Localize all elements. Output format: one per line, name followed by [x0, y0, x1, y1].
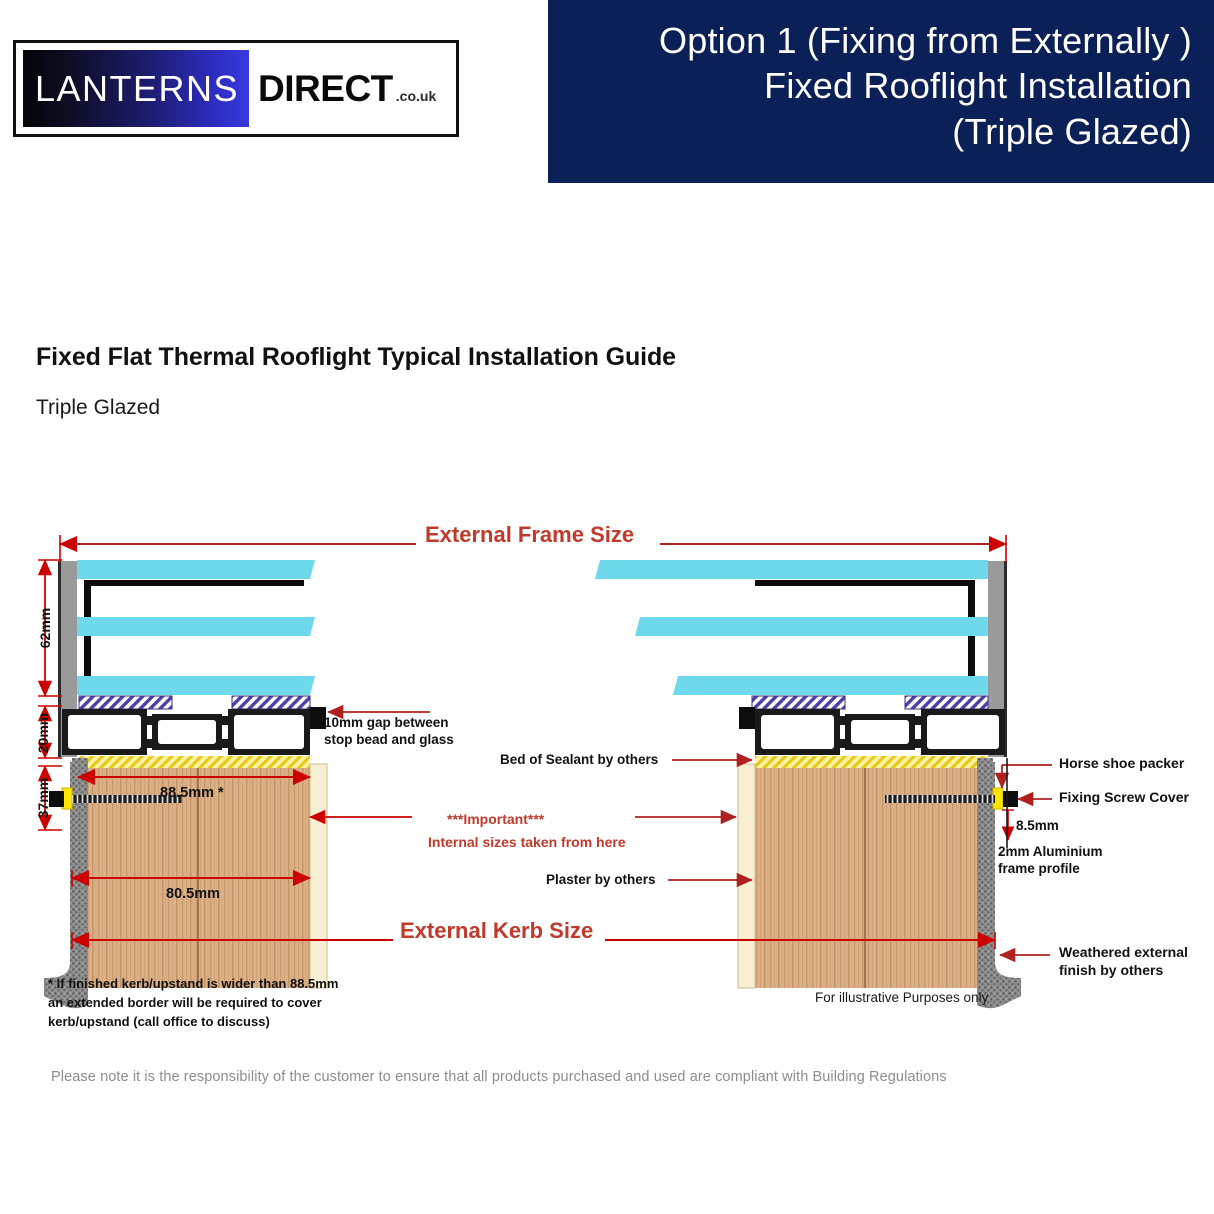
fixing-screw-cover-left: [49, 791, 64, 807]
thermal-break-connector-bl-r: [838, 739, 848, 748]
weathered-finish-upstand-left: [72, 758, 88, 990]
dim-label-88-5mm: 88.5mm *: [160, 785, 224, 801]
logo-inner: LANTERNS DIRECT .co.uk: [23, 50, 449, 127]
thermal-break-connector-tl-r: [838, 716, 848, 725]
thermal-break-connector-tl: [145, 716, 155, 725]
thermal-break-connector-tr-r: [912, 716, 923, 725]
footer-disclaimer: Please note it is the responsibility of …: [51, 1069, 947, 1085]
thermal-break-connector-tr: [219, 716, 230, 725]
callout-horse-shoe-packer: Horse shoe packer: [1059, 755, 1184, 773]
stop-bead-right: [739, 707, 755, 729]
callout-important-text: Internal sizes taken from here: [428, 833, 626, 851]
company-logo: LANTERNS DIRECT .co.uk: [13, 40, 459, 137]
dim-label-80-5mm: 80.5mm: [166, 886, 220, 902]
banner-line-1: Option 1 (Fixing from Externally ): [568, 18, 1192, 63]
aluminium-frame-profile-right: [755, 709, 1005, 755]
left-upstand-edge: [58, 561, 61, 757]
illustrative-note: For illustrative Purposes only: [815, 990, 988, 1005]
callout-fixing-screw-cover: Fixing Screw Cover: [1059, 789, 1189, 807]
frame-chamber-inner-void: [234, 715, 304, 749]
glass-spacer-bar-1: [84, 580, 304, 586]
fixing-screw-right: [885, 795, 995, 803]
plaster-right: [738, 764, 755, 988]
callout-important-title: ***Important***: [447, 810, 544, 828]
glass-pane-inner-right: [673, 676, 988, 695]
callout-plaster: Plaster by others: [546, 871, 656, 888]
logo-gradient-block: LANTERNS: [23, 50, 249, 127]
callout-weathered-finish: Weathered external finish by others: [1059, 944, 1188, 980]
glass-pane-middle: [77, 617, 315, 636]
header-banner: Option 1 (Fixing from Externally ) Fixed…: [548, 0, 1214, 183]
banner-line-3: (Triple Glazed): [568, 109, 1192, 154]
setting-block-right: [232, 696, 310, 709]
plaster-left: [310, 764, 327, 988]
frame-chamber-middle-void-r: [851, 720, 909, 744]
bed-of-sealant-left: [79, 756, 310, 768]
banner-line-2: Fixed Rooflight Installation: [568, 63, 1192, 108]
setting-block-left: [79, 696, 172, 709]
page-root: LANTERNS DIRECT .co.uk Option 1 (Fixing …: [0, 0, 1214, 1214]
setting-block-left-right: [752, 696, 845, 709]
frame-chamber-inner-void-r: [761, 715, 834, 749]
installation-cross-section-diagram: External Frame Size External Kerb Size 6…: [0, 500, 1214, 1060]
dim-label-8-5mm: 8.5mm: [1016, 818, 1059, 833]
callout-bed-of-sealant: Bed of Sealant by others: [500, 751, 658, 768]
dim-label-20mm: 20mm: [35, 698, 51, 768]
logo-brand-primary: LANTERNS: [35, 68, 239, 110]
thermal-break-connector-br: [219, 739, 230, 748]
aluminium-frame-profile-left: [62, 709, 310, 755]
frame-chamber-outer-void: [68, 715, 141, 749]
label-external-kerb-size: External Kerb Size: [400, 918, 593, 944]
logo-text-block: DIRECT .co.uk: [249, 68, 436, 110]
setting-block-right-right: [905, 696, 988, 709]
frame-chamber-outer-void-r: [927, 715, 999, 749]
dim-label-37mm: 37mm: [35, 763, 51, 833]
dim-label-62mm: 62mm: [37, 593, 53, 663]
glass-pane-inner: [77, 676, 315, 695]
glass-pane-outer: [77, 560, 315, 579]
logo-tld: .co.uk: [393, 88, 436, 104]
page-title: Fixed Flat Thermal Rooflight Typical Ins…: [36, 343, 676, 372]
callout-aluminium-frame-profile: 2mm Aluminium frame profile: [998, 843, 1103, 878]
logo-brand-secondary: DIRECT: [258, 68, 393, 110]
fixing-screw-cover-right: [1003, 791, 1018, 807]
glass-pane-middle-right: [635, 617, 988, 636]
thermal-break-connector-br-r: [912, 739, 923, 748]
label-external-frame-size: External Frame Size: [425, 522, 634, 548]
callout-stop-bead-gap: 10mm gap between stop bead and glass: [324, 714, 454, 749]
bed-of-sealant-right: [755, 756, 988, 768]
weathered-finish-upstand-right: [977, 758, 993, 990]
glass-pane-outer-right: [595, 560, 988, 579]
glass-spacer-bar-1-right: [755, 580, 975, 586]
page-subtitle: Triple Glazed: [36, 396, 160, 420]
frame-chamber-middle-void: [158, 720, 216, 744]
diagram-footnote: * If finished kerb/upstand is wider than…: [48, 975, 338, 1032]
thermal-break-connector-bl: [145, 739, 155, 748]
